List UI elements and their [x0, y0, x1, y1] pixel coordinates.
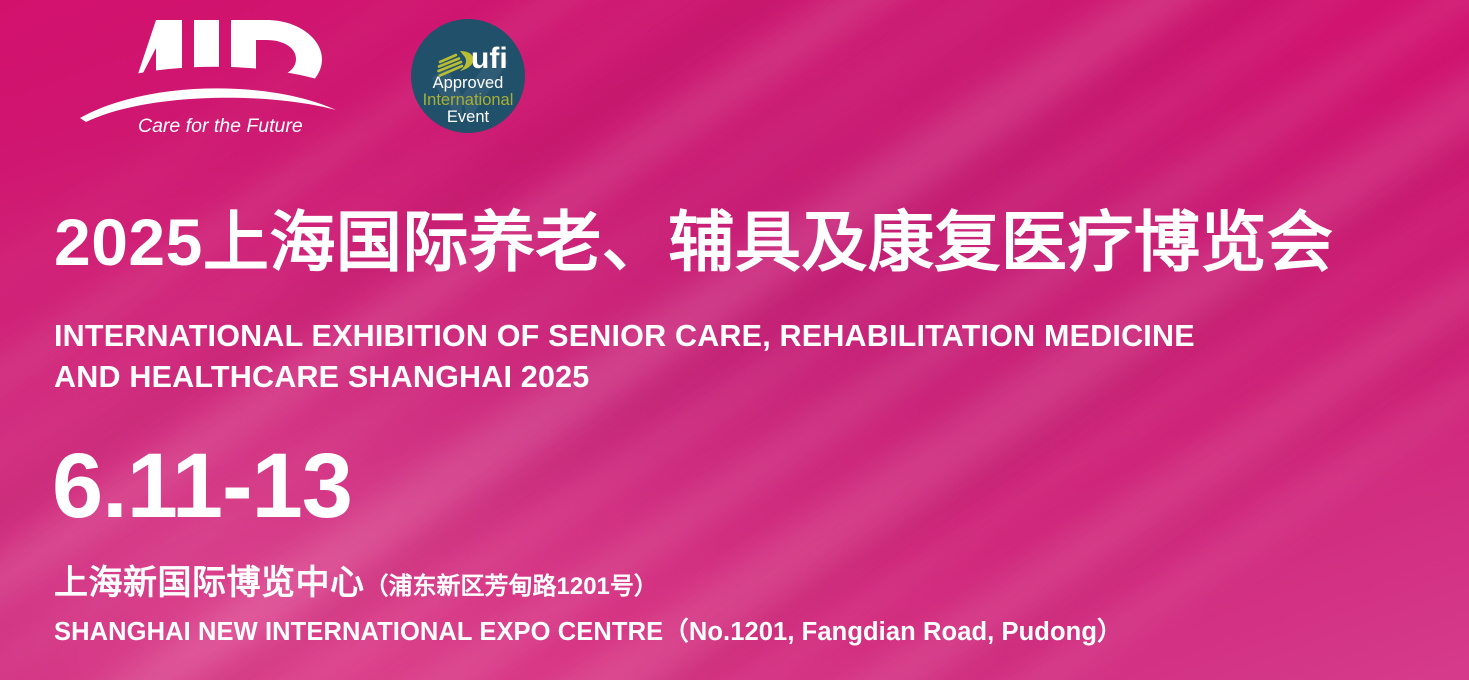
event-title-english-line-2: AND HEALTHCARE SHANGHAI 2025	[54, 357, 1414, 398]
venue-english: SHANGHAI NEW INTERNATIONAL EXPO CENTRE（N…	[54, 618, 1123, 647]
ufi-approved-label: Approved	[433, 74, 504, 92]
event-banner: Care for the Future ufi Appro	[0, 0, 1469, 680]
event-title-english-line-1: INTERNATIONAL EXHIBITION OF SENIOR CARE,…	[54, 316, 1414, 357]
event-title-english: INTERNATIONAL EXHIBITION OF SENIOR CARE,…	[54, 316, 1414, 399]
ufi-international-label: International	[423, 91, 514, 109]
ufi-wordmark: ufi	[471, 42, 508, 75]
ufi-event-label: Event	[447, 108, 490, 126]
ufi-approved-international-event-badge[interactable]: ufi Approved International Event	[410, 18, 526, 134]
venue-chinese-address: （浦东新区芳甸路1201号）	[365, 573, 658, 600]
event-title-chinese: 2025上海国际养老、辅具及康复医疗博览会	[54, 208, 1333, 277]
venue-chinese: 上海新国际博览中心（浦东新区芳甸路1201号）	[54, 565, 658, 602]
aid-logo[interactable]: Care for the Future	[78, 18, 338, 138]
event-date: 6.11-13	[52, 440, 352, 532]
aid-tagline: Care for the Future	[138, 115, 303, 137]
venue-chinese-name: 上海新国际博览中心	[54, 564, 365, 602]
